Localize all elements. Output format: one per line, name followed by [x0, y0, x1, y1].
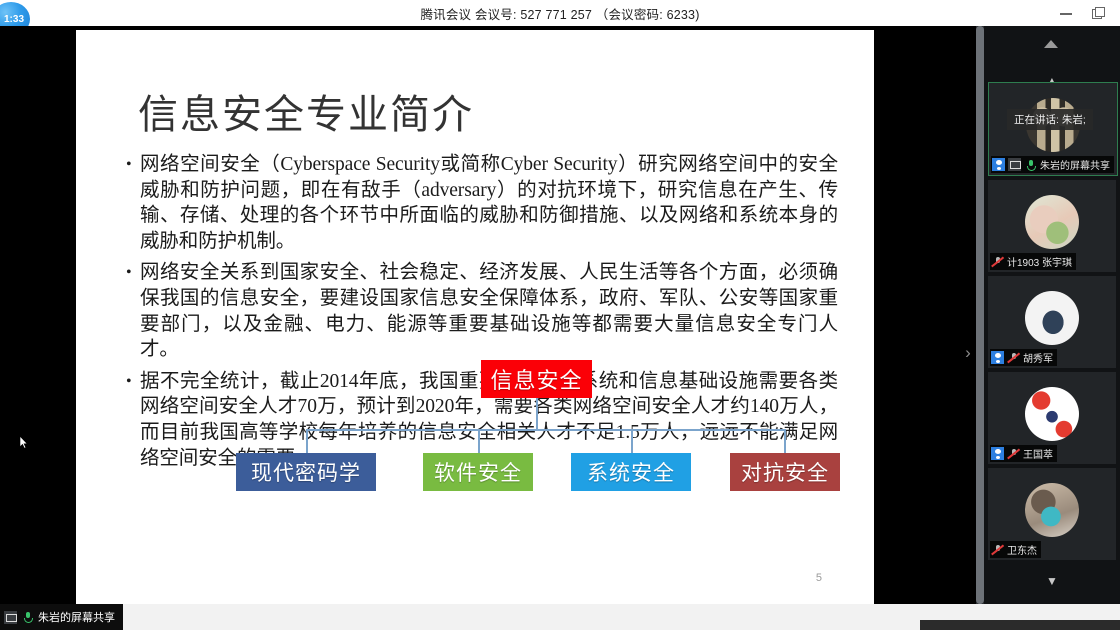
- participant-name: 王国萃: [1023, 446, 1053, 461]
- participant-name: 朱岩的屏幕共享: [1040, 157, 1110, 172]
- restore-icon[interactable]: [1090, 5, 1106, 21]
- participant-namebar: 计1903 张宇琪: [990, 253, 1076, 270]
- window-controls: [1058, 0, 1114, 26]
- host-icon: [992, 158, 1005, 171]
- participant-tile[interactable]: 王国萃: [988, 372, 1116, 464]
- meeting-timer-label: 1:33: [0, 14, 24, 25]
- taskbar-right-block: [920, 620, 1120, 630]
- participant-tile[interactable]: 卫东杰: [988, 468, 1116, 560]
- connector-horizontal: [306, 429, 785, 431]
- participant-tile[interactable]: 计1903 张宇琪: [988, 180, 1116, 272]
- security-hierarchy-diagram: 信息安全 现代密码学 软件安全 系统安全 对抗安全: [126, 360, 838, 495]
- connector-child-1: [478, 429, 480, 453]
- shared-screen-stage: 信息安全专业简介 网络空间安全（Cyberspace Security或简称Cy…: [0, 26, 975, 604]
- participant-namebar: 卫东杰: [990, 541, 1041, 558]
- diagram-node-root: 信息安全: [481, 360, 592, 398]
- microphone-on-icon: [1024, 158, 1037, 171]
- participant-name: 胡秀军: [1023, 350, 1053, 365]
- microphone-on-icon: [21, 611, 34, 624]
- window-title: 腾讯会议 会议号: 527 771 257 （会议密码: 6233): [420, 4, 699, 23]
- minimize-icon[interactable]: [1058, 5, 1074, 21]
- diagram-node-cryptography: 现代密码学: [236, 453, 376, 491]
- slide-page-number: 5: [816, 572, 822, 584]
- connector-child-0: [306, 429, 308, 453]
- participant-namebar: 胡秀军: [990, 349, 1057, 366]
- avatar: [1025, 387, 1079, 441]
- connector-root-vertical: [536, 398, 538, 430]
- stage-scrollbar-thumb[interactable]: [976, 26, 984, 604]
- participant-name: 卫东杰: [1007, 542, 1037, 557]
- participant-name: 计1903 张宇琪: [1007, 254, 1072, 269]
- avatar: [1025, 195, 1079, 249]
- microphone-off-icon: [991, 255, 1004, 268]
- screen-share-indicator[interactable]: 朱岩的屏幕共享: [0, 604, 123, 630]
- diagram-node-software-security: 软件安全: [423, 453, 533, 491]
- title-bar: 1:33 腾讯会议 会议号: 527 771 257 （会议密码: 6233): [0, 0, 1120, 26]
- bullet-item: 网络安全关系到国家安全、社会稳定、经济发展、人民生活等各个方面，必须确保我国的信…: [126, 260, 838, 362]
- connector-child-2: [631, 429, 633, 453]
- participants-scroll-down-icon[interactable]: ▼: [984, 572, 1120, 590]
- screen-share-label: 朱岩的屏幕共享: [38, 609, 115, 625]
- participant-namebar: 王国萃: [990, 445, 1057, 462]
- bullet-item: 网络空间安全（Cyberspace Security或简称Cyber Secur…: [126, 152, 838, 254]
- speaking-tooltip: 正在讲话: 朱岩;: [1007, 109, 1093, 130]
- avatar: [1025, 483, 1079, 537]
- participant-tile[interactable]: 朱岩的屏幕共享 正在讲话: 朱岩;: [988, 82, 1118, 176]
- microphone-off-icon: [1007, 447, 1020, 460]
- next-slide-chevron-icon[interactable]: ›: [960, 342, 976, 364]
- participant-tile[interactable]: 胡秀军: [988, 276, 1116, 368]
- participant-namebar: 朱岩的屏幕共享: [991, 156, 1114, 173]
- avatar: [1025, 291, 1079, 345]
- microphone-off-icon: [991, 543, 1004, 556]
- tooltip-caret-icon: [1044, 40, 1058, 48]
- slide-title: 信息安全专业简介: [138, 82, 474, 140]
- presentation-slide: 信息安全专业简介 网络空间安全（Cyberspace Security或简称Cy…: [76, 30, 874, 608]
- diagram-node-adversarial-security: 对抗安全: [730, 453, 840, 491]
- participants-panel: ▲ ▼ 朱岩的屏幕共享 正在讲话: 朱岩; 计1903 张宇: [984, 26, 1120, 604]
- connector-child-3: [784, 429, 786, 453]
- screen-share-icon: [4, 611, 17, 624]
- microphone-off-icon: [1007, 351, 1020, 364]
- mouse-cursor-icon: [20, 436, 29, 450]
- app-root: 1:33 腾讯会议 会议号: 527 771 257 （会议密码: 6233) …: [0, 0, 1120, 630]
- participant-tiles: 朱岩的屏幕共享 正在讲话: 朱岩; 计1903 张宇琪 胡秀军: [984, 82, 1120, 564]
- taskbar: 朱岩的屏幕共享: [0, 604, 1120, 630]
- stage-scrollbar[interactable]: [976, 26, 984, 604]
- diagram-node-system-security: 系统安全: [571, 453, 691, 491]
- screen-share-icon: [1008, 158, 1021, 171]
- host-icon: [991, 447, 1004, 460]
- host-icon: [991, 351, 1004, 364]
